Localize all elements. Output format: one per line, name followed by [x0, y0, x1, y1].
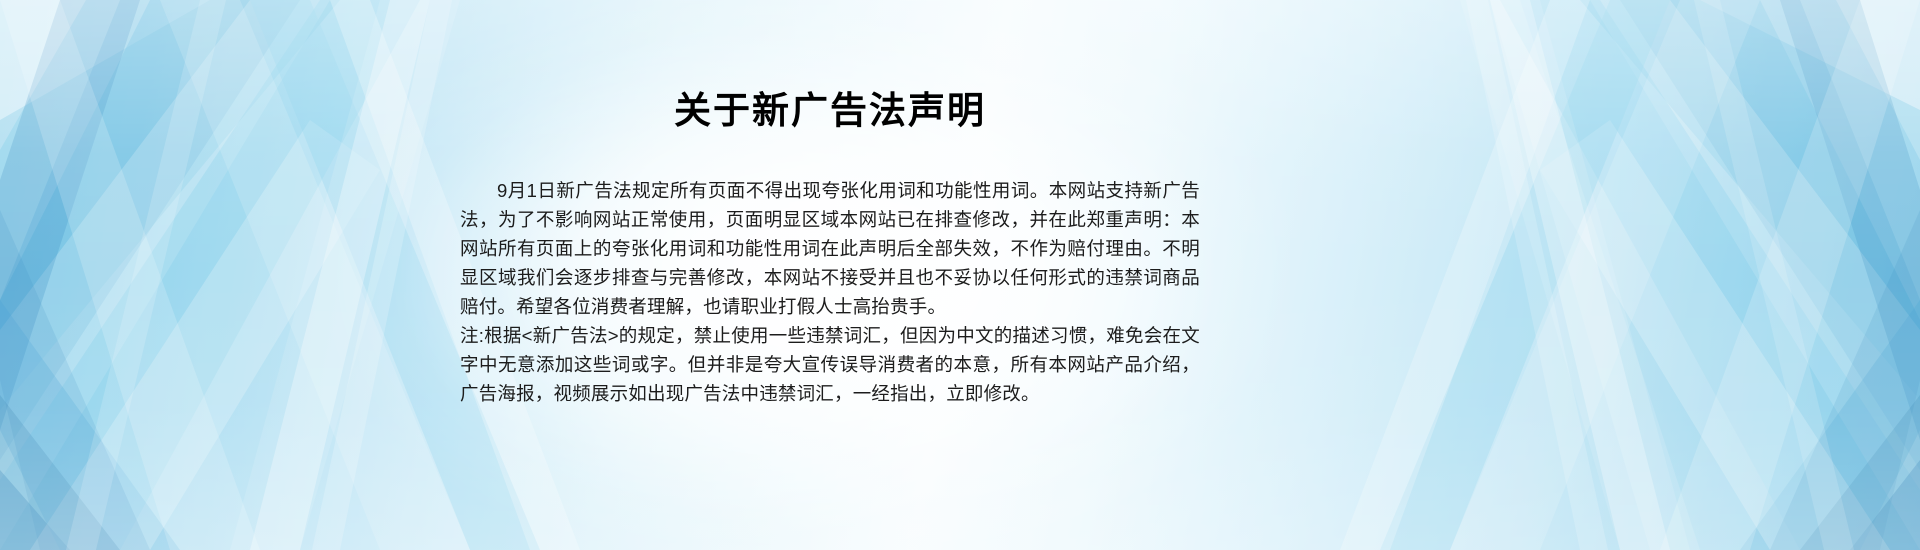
statement-paragraph-1: 9月1日新广告法规定所有页面不得出现夸张化用词和功能性用词。本网站支持新广告法，…	[460, 176, 1200, 321]
statement-body: 9月1日新广告法规定所有页面不得出现夸张化用词和功能性用词。本网站支持新广告法，…	[460, 176, 1200, 408]
page-title: 关于新广告法声明	[460, 88, 1200, 134]
advertising-law-statement-banner: 关于新广告法声明 9月1日新广告法规定所有页面不得出现夸张化用词和功能性用词。本…	[0, 0, 1920, 550]
banner-content: 关于新广告法声明 9月1日新广告法规定所有页面不得出现夸张化用词和功能性用词。本…	[0, 0, 1920, 550]
statement-paragraph-2: 注:根据<新广告法>的规定，禁止使用一些违禁词汇，但因为中文的描述习惯，难免会在…	[460, 321, 1200, 408]
